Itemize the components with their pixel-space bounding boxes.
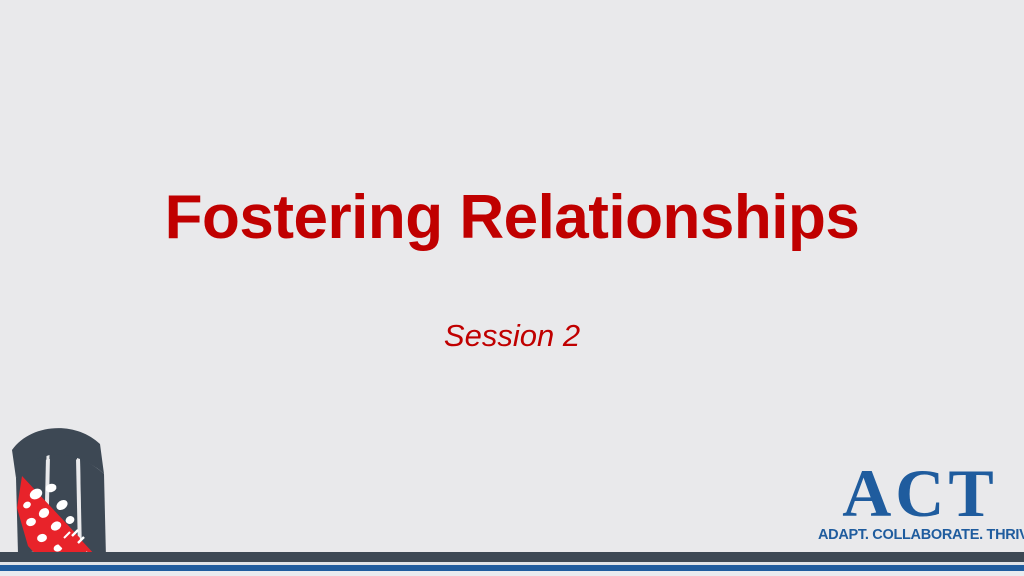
act-tagline: ADAPT. COLLABORATE. THRIVE. <box>818 527 1018 543</box>
slide-subtitle: Session 2 <box>0 318 1024 354</box>
act-logo: ACT ADAPT. COLLABORATE. THRIVE. <box>818 462 1018 546</box>
title-placeholder: Fostering Relationships <box>0 186 1024 250</box>
page-title: Fostering Relationships <box>0 186 1024 250</box>
subtitle-placeholder: Session 2 <box>0 318 1024 354</box>
bottom-bar-dark <box>0 552 1024 562</box>
bottom-bar-decoration <box>0 550 1024 576</box>
act-wordmark: ACT <box>822 462 1018 526</box>
bottom-bar-foot <box>0 571 1024 576</box>
slide-canvas: Fostering Relationships Session 2 <box>0 0 1024 576</box>
